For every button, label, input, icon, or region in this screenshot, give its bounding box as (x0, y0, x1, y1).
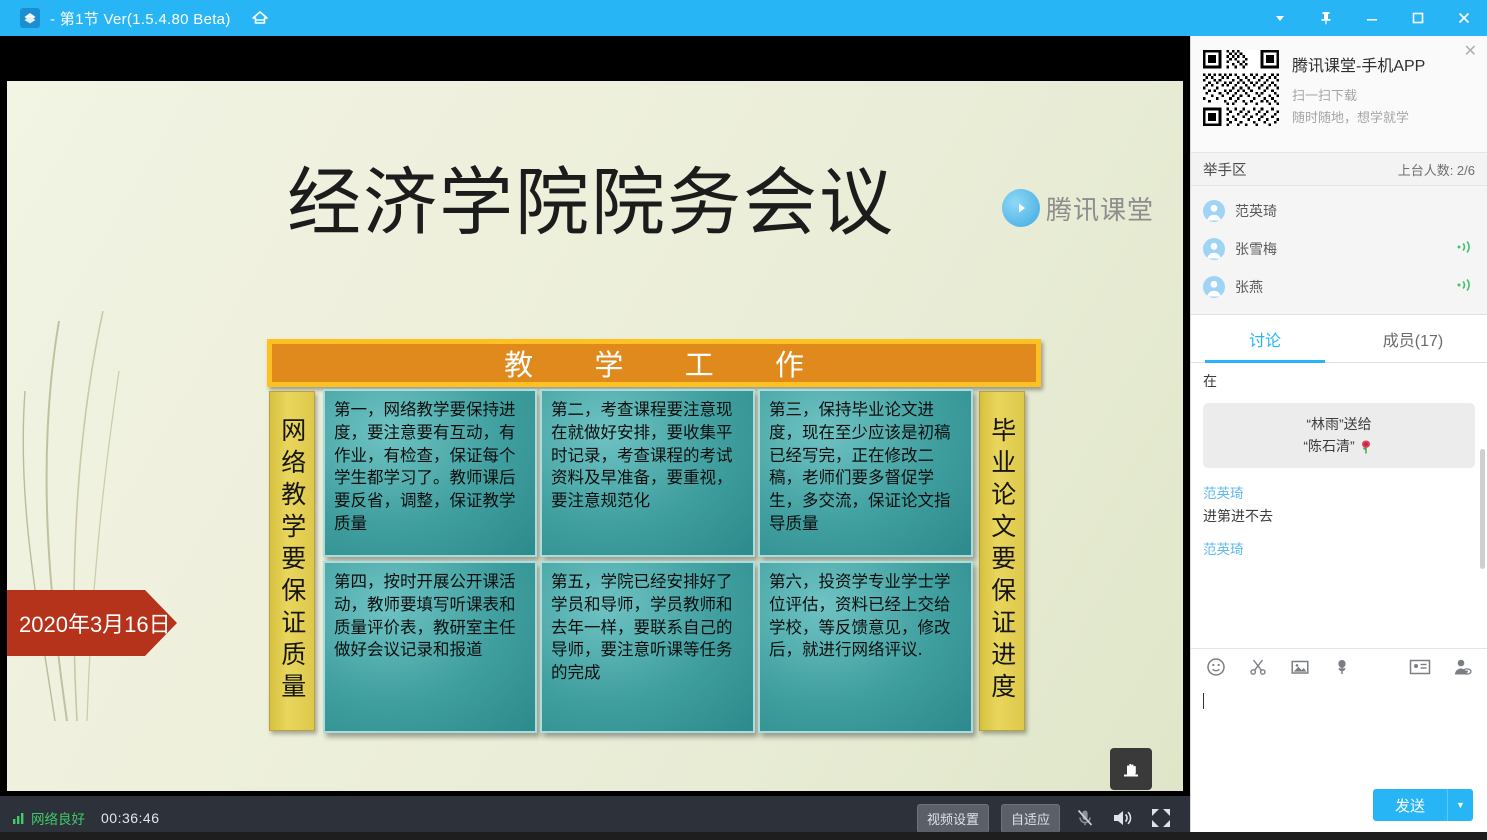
participant-name: 范英琦 (1235, 201, 1277, 221)
slide-cell: 第五，学院已经安排好了学员和导师，学员教师和去年一样，要联系自己的导师，要注意听… (540, 561, 755, 733)
raise-hand-list: 范英琦 张雪梅 (1191, 186, 1487, 315)
slide-cell: 第一，网络教学要保持进度，要注意要有互动，有作业，有检查，保证每个学生都学习了。… (323, 389, 537, 557)
chat-input[interactable] (1191, 684, 1487, 780)
fit-mode-button[interactable]: 自适应 (1001, 804, 1060, 833)
audio-wave-icon (1455, 277, 1475, 298)
list-item[interactable]: 范英琦 (1191, 192, 1487, 230)
on-stage-count: 上台人数: 2/6 (1398, 160, 1475, 179)
window-title: - 第1节 Ver(1.5.4.80 Beta) (50, 8, 231, 29)
promo-line-1: 扫一扫下载 (1292, 85, 1425, 104)
watermark-logo-icon (1002, 189, 1040, 227)
slide-title: 经济学院院务会议 (287, 166, 1027, 240)
slide-cell: 第六，投资学专业学士学位评估，资料已经上交给学校，等反馈意见，修改后，就进行网络… (758, 561, 973, 733)
flower-icon[interactable] (1331, 656, 1353, 678)
home-icon[interactable] (249, 7, 271, 29)
slide-left-vertical-label: 网络教学要保证质量 (269, 391, 315, 731)
scissors-icon[interactable] (1247, 656, 1269, 678)
participant-name: 张雪梅 (1235, 239, 1277, 259)
promo-title: 腾讯课堂-手机APP (1292, 52, 1425, 76)
chat-toolbar (1191, 648, 1487, 684)
chat-message: 进第进不去 (1203, 506, 1475, 526)
rose-icon (1357, 438, 1375, 456)
presentation-slide: 经济学院院务会议 腾讯课堂 教 学 工 作 网络教学要保证质量 毕业论文要保证进… (7, 81, 1183, 791)
close-icon[interactable]: ✕ (1464, 44, 1477, 60)
signal-bars-icon (12, 811, 26, 825)
qr-code-icon (1203, 50, 1279, 126)
card-icon[interactable] (1409, 656, 1431, 678)
slide-right-vertical-label: 毕业论文要保证进度 (979, 391, 1025, 731)
list-item[interactable]: 张雪梅 (1191, 230, 1487, 268)
network-status: 网络良好 (12, 808, 85, 828)
emoji-icon[interactable] (1205, 656, 1227, 678)
person-icon[interactable] (1451, 656, 1473, 678)
audio-wave-icon (1455, 239, 1475, 260)
mobile-app-promo: 腾讯课堂-手机APP 扫一扫下载 随时随地，想学就学 ✕ (1191, 36, 1487, 153)
slide-banner: 教 学 工 作 (267, 339, 1041, 387)
tab-members[interactable]: 成员(17) (1339, 315, 1487, 362)
fullscreen-icon[interactable] (1148, 805, 1174, 831)
gift-line-1: “林雨”送给 (1215, 413, 1463, 435)
microphone-muted-icon[interactable] (1072, 805, 1098, 831)
raise-hand-title: 举手区 (1203, 159, 1247, 180)
network-status-text: 网络良好 (31, 808, 85, 828)
send-button-group: 发送 ▼ (1373, 789, 1473, 821)
maximize-icon[interactable] (1395, 0, 1441, 36)
gift-line-2: “陈石清” (1303, 435, 1354, 457)
avatar (1203, 200, 1225, 222)
chat-sender[interactable]: 范英琦 (1203, 538, 1475, 558)
gift-message: “林雨”送给 “陈石清” (1203, 403, 1475, 468)
participant-name: 张燕 (1235, 277, 1263, 297)
raise-hand-header: 举手区 上台人数: 2/6 (1191, 153, 1487, 186)
text-caret (1203, 693, 1204, 709)
avatar (1203, 238, 1225, 260)
session-timer: 00:36:46 (101, 810, 160, 826)
right-sidebar: 腾讯课堂-手机APP 扫一扫下载 随时随地，想学就学 ✕ 举手区 上台人数: 2… (1190, 36, 1487, 840)
app-logo-icon (20, 8, 40, 28)
image-icon[interactable] (1289, 656, 1311, 678)
slide-cell: 第四，按时开展公开课活动，教师要填写听课表和质量评价表，教研室主任做好会议记录和… (323, 561, 537, 733)
watermark-text: 腾讯课堂 (1046, 190, 1154, 227)
slide-date-ribbon: 2020年3月16日 (7, 590, 177, 656)
tab-discussion[interactable]: 讨论 (1191, 315, 1339, 362)
video-stage[interactable]: 经济学院院务会议 腾讯课堂 教 学 工 作 网络教学要保证质量 毕业论文要保证进… (0, 36, 1190, 840)
minimize-icon[interactable] (1349, 0, 1395, 36)
window-controls (1257, 0, 1487, 36)
window-titlebar: - 第1节 Ver(1.5.4.80 Beta) (0, 0, 1487, 36)
close-icon[interactable] (1441, 0, 1487, 36)
slide-cell: 第二，考查课程要注意现在就做好安排，要收集平时记录，考查课程的考试资料及早准备，… (540, 389, 755, 557)
pin-icon[interactable] (1303, 0, 1349, 36)
panel-tabs: 讨论 成员(17) (1191, 315, 1487, 363)
avatar (1203, 276, 1225, 298)
send-options-dropdown-icon[interactable]: ▼ (1447, 789, 1473, 821)
chat-messages[interactable]: 在 “林雨”送给 “陈石清” 范英琦 进第进不去 范英琦 (1191, 363, 1487, 648)
desktop-taskbar-strip (0, 832, 1487, 840)
speaker-icon[interactable] (1110, 805, 1136, 831)
slide-cell: 第三，保持毕业论文进度，现在至少应该是初稿已经写完，正在修改二稿，老师们要多督促… (758, 389, 973, 557)
list-item[interactable]: 张燕 (1191, 268, 1487, 306)
tencent-classroom-watermark: 腾讯课堂 (1002, 189, 1154, 227)
send-button[interactable]: 发送 (1373, 789, 1447, 821)
send-row: 发送 ▼ (1191, 780, 1487, 840)
video-settings-button[interactable]: 视频设置 (917, 804, 989, 833)
chevron-down-icon[interactable] (1257, 0, 1303, 36)
chat-sender[interactable]: 范英琦 (1203, 482, 1475, 502)
promo-line-2: 随时随地，想学就学 (1292, 107, 1425, 126)
hand-icon[interactable] (1110, 748, 1152, 790)
chat-message: 在 (1203, 371, 1475, 391)
chat-scrollbar[interactable] (1480, 449, 1485, 569)
